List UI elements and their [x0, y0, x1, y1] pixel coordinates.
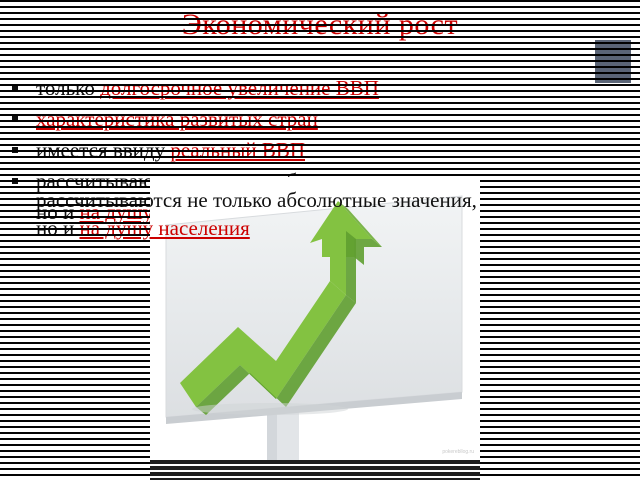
bullet-text-highlight: характеристика развитых стран: [36, 107, 318, 131]
image-watermark-top: pokerebllog.ru: [442, 449, 474, 455]
presentation-slide: Экономический рост только долгосрочное у…: [0, 0, 640, 480]
list-item: только долгосрочное увеличение ВВП: [6, 74, 638, 102]
square-bullet-icon: [12, 85, 18, 91]
bullet-text-segment: имеется ввиду: [36, 138, 170, 162]
list-item-overlay-line2: но и на душу населения: [36, 214, 640, 242]
list-item-overlay-line1: рассчитываются не только абсолютные знач…: [36, 186, 640, 214]
scanline-artifact-bottom: [150, 460, 480, 480]
bullet-text-segment: рассчитываются не только абсолютные знач…: [36, 188, 477, 212]
square-bullet-icon: [12, 178, 18, 184]
bullet-text-segment: только: [36, 76, 100, 100]
bullet-text-segment: но и: [36, 216, 79, 240]
bullet-text-highlight: долгосрочное увеличение ВВП: [100, 76, 379, 100]
bullet-text-highlight: на душу населения: [79, 216, 249, 240]
bullet-text-highlight: реальный ВВП: [170, 138, 305, 162]
square-bullet-icon: [12, 147, 18, 153]
page-title: Экономический рост: [0, 7, 640, 43]
square-bullet-icon: [12, 116, 18, 122]
list-item: характеристика развитых стран: [6, 105, 638, 133]
list-item: имеется ввиду реальный ВВП: [6, 136, 638, 164]
